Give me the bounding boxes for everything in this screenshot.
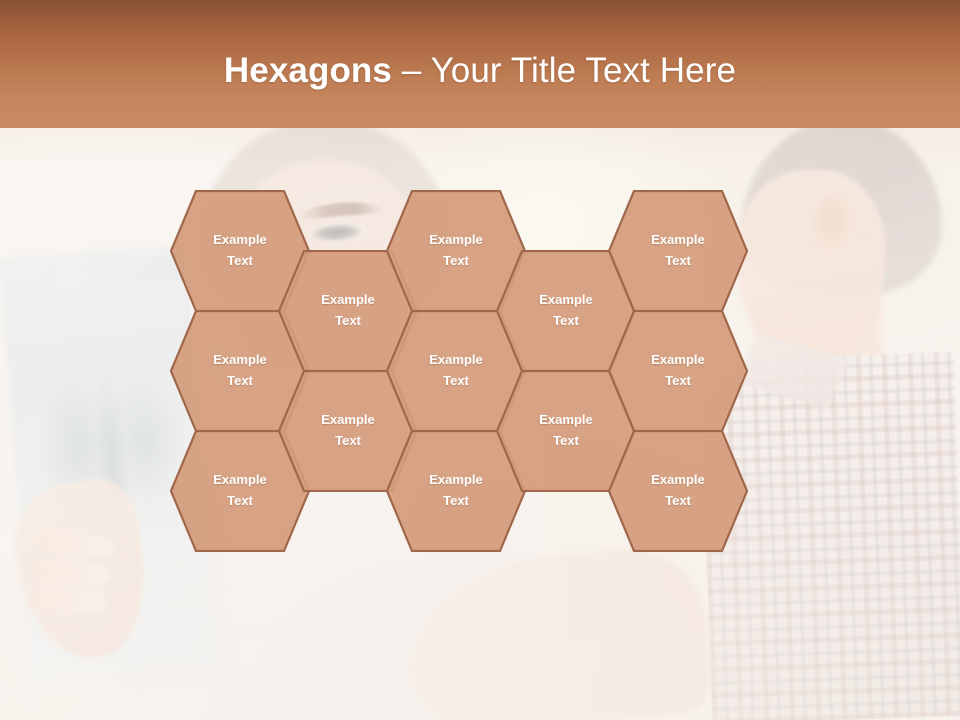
hexagon-label: Example Text <box>410 230 502 271</box>
title-band: Hexagons – Your Title Text Here <box>0 0 960 128</box>
page-title-rest: – Your Title Text Here <box>392 51 736 90</box>
hexagon-label: Example Text <box>194 230 286 271</box>
page-title: Hexagons – Your Title Text Here <box>224 52 736 91</box>
hexagon-hex-c5-r2[interactable]: Example Text <box>608 310 748 432</box>
hexagon-label: Example Text <box>194 470 286 511</box>
slide-canvas: Hexagons – Your Title Text Here Example … <box>0 0 960 720</box>
hexagon-label: Example Text <box>410 350 502 391</box>
hexagon-label: Example Text <box>632 470 724 511</box>
hexagon-label: Example Text <box>632 350 724 391</box>
hexagon-label: Example Text <box>520 290 612 331</box>
hexagon-hex-c5-r1[interactable]: Example Text <box>608 190 748 312</box>
hexagon-label: Example Text <box>194 350 286 391</box>
hexagon-label: Example Text <box>520 410 612 451</box>
hexagon-label: Example Text <box>410 470 502 511</box>
hexagon-label: Example Text <box>632 230 724 271</box>
page-title-strong: Hexagons <box>224 51 392 90</box>
hexagon-hex-c5-r3[interactable]: Example Text <box>608 430 748 552</box>
hexagon-label: Example Text <box>302 290 394 331</box>
hexagon-label: Example Text <box>302 410 394 451</box>
